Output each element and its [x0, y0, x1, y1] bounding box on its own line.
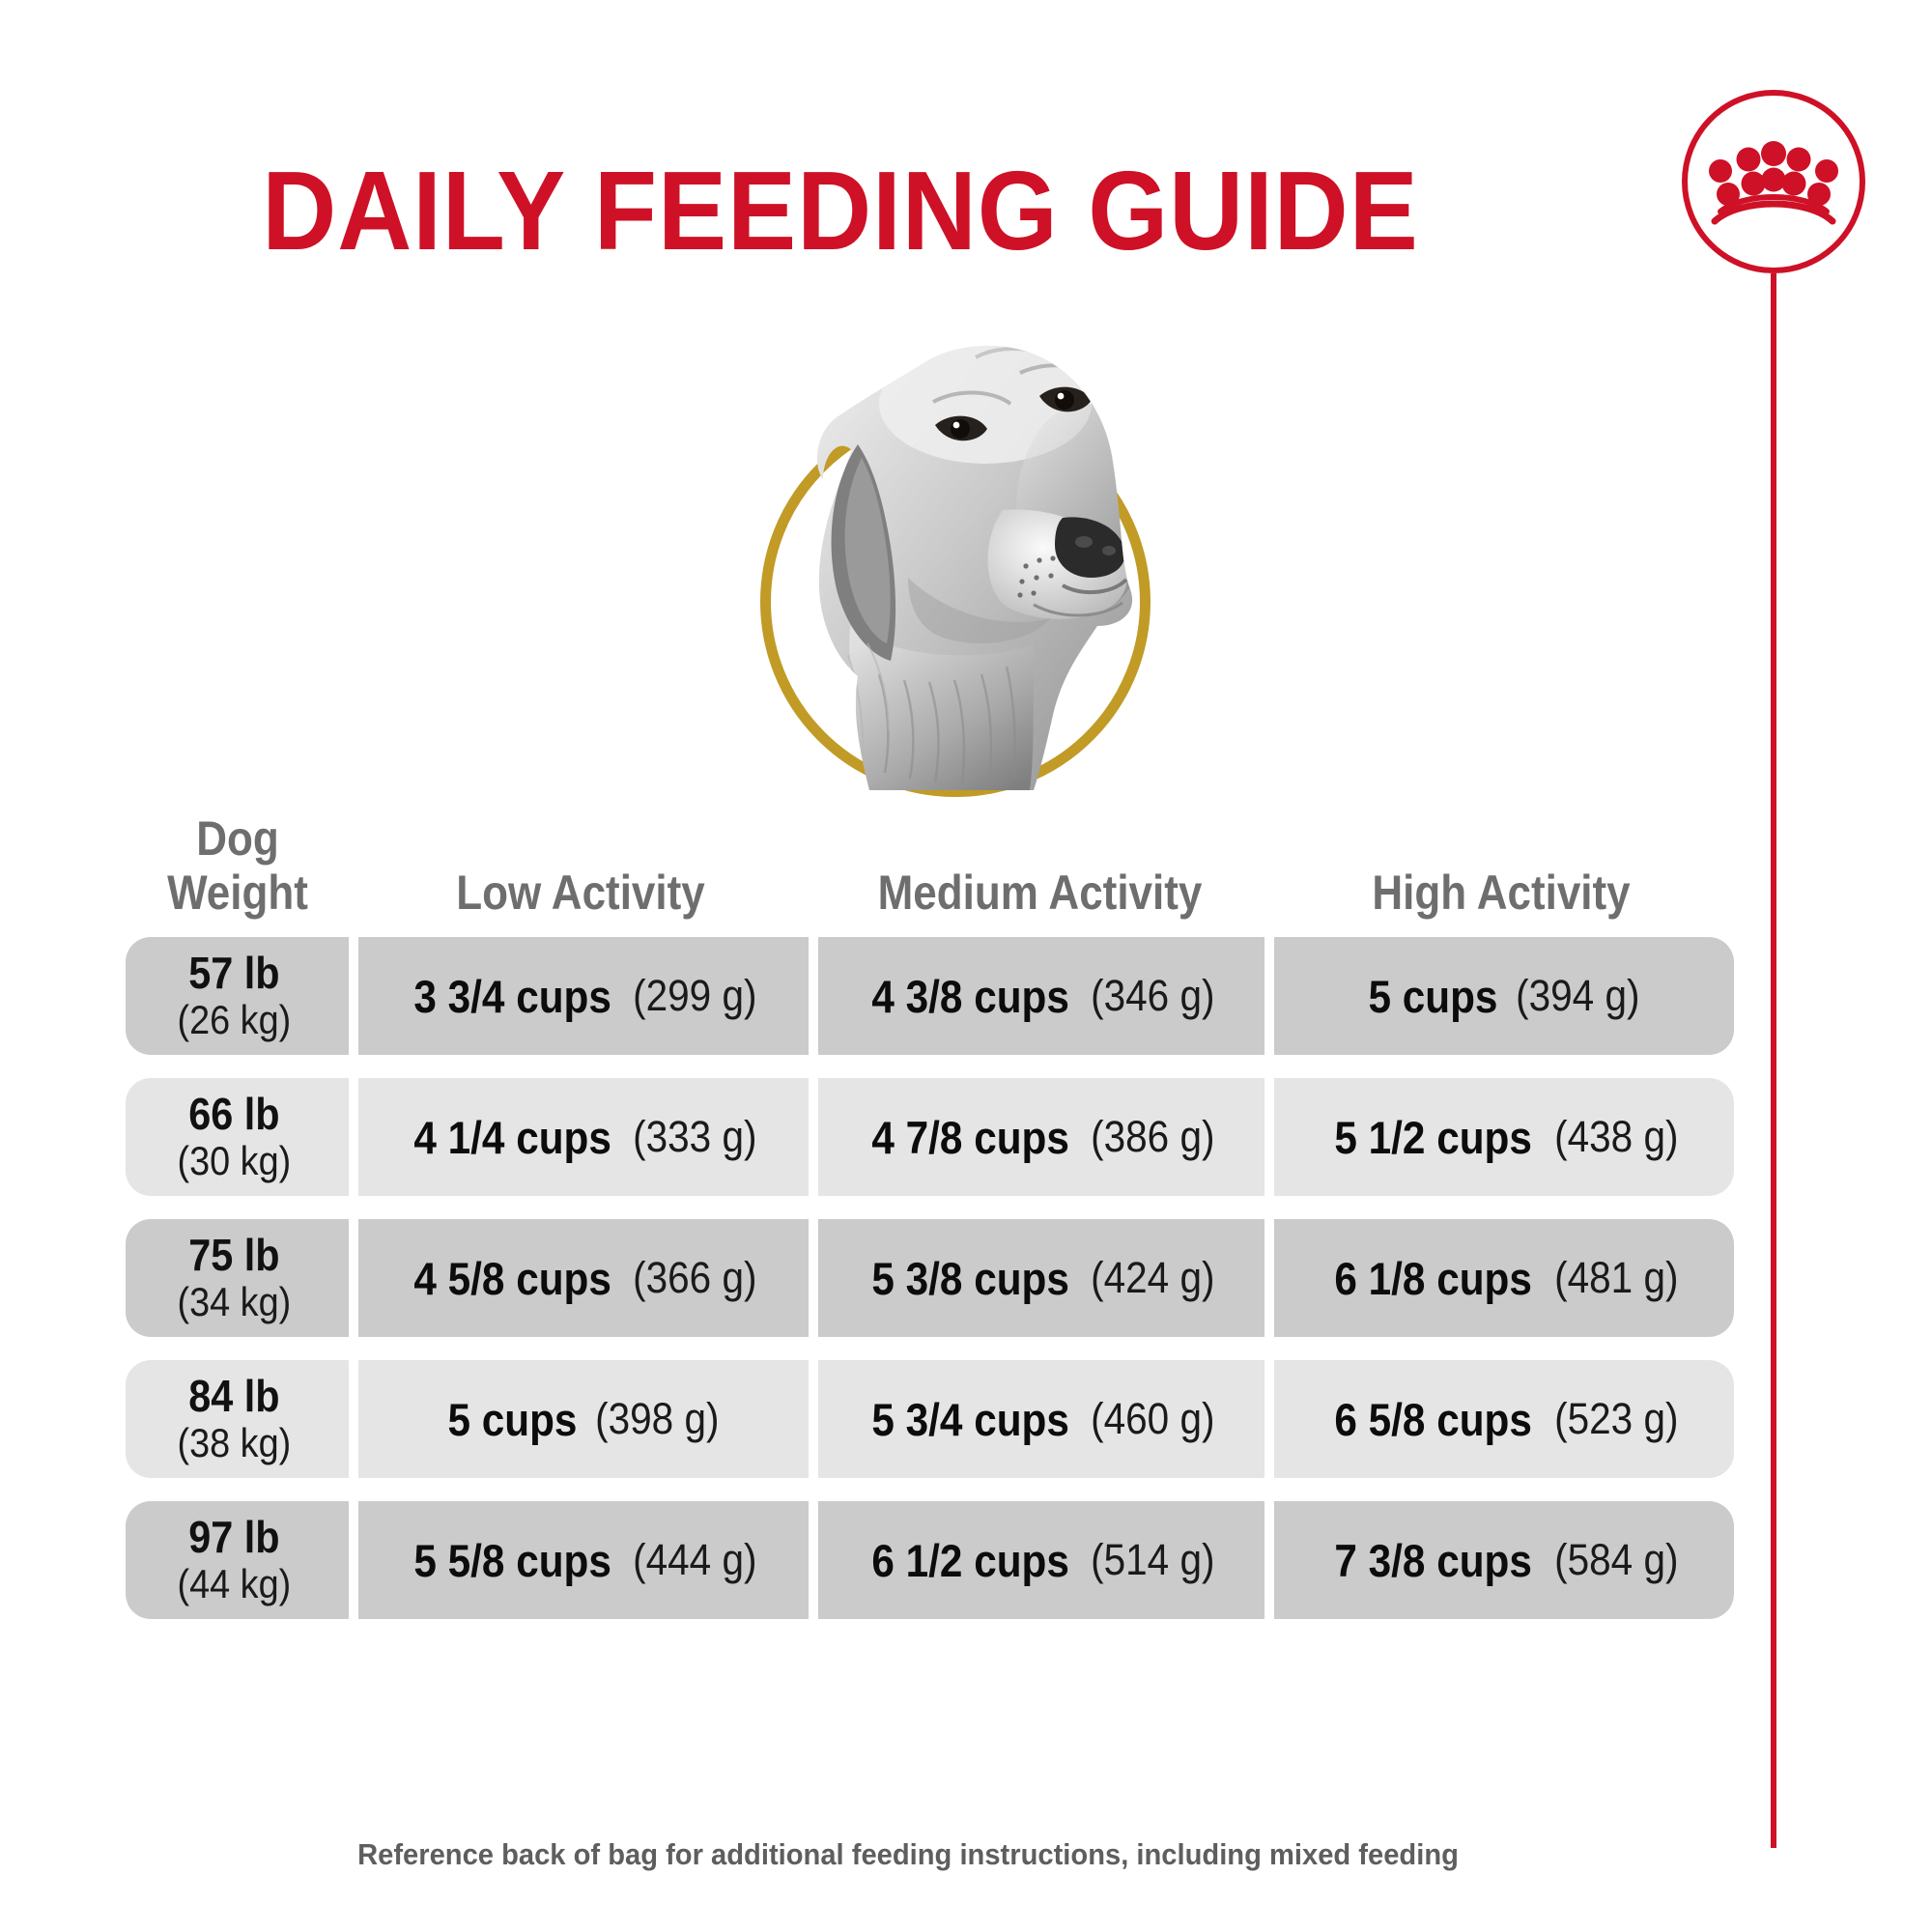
cell-divider — [809, 1501, 818, 1619]
cell-medium-activity: 4 3/8 cups (346 g) — [818, 937, 1265, 1055]
cell-divider — [809, 1078, 818, 1196]
cell-medium-activity: 4 7/8 cups (386 g) — [818, 1078, 1265, 1196]
brand-vertical-rule — [1771, 273, 1776, 1848]
weight-kg: (26 kg) — [178, 1000, 292, 1041]
cell-divider — [1264, 1078, 1274, 1196]
column-header-line2: Weight — [139, 866, 336, 920]
cell-divider — [349, 937, 358, 1055]
table-row: 75 lb (34 kg) 4 5/8 cups (366 g) 5 3/8 c… — [126, 1219, 1734, 1337]
column-header-medium-activity: Medium Activity — [838, 866, 1240, 937]
column-header-line1: Dog — [139, 811, 336, 866]
weight-kg: (38 kg) — [178, 1423, 292, 1464]
cell-high-activity: 5 1/2 cups (438 g) — [1274, 1078, 1734, 1196]
high-cups: 5 1/2 cups — [1335, 1111, 1533, 1164]
cell-low-activity: 5 cups (398 g) — [358, 1360, 809, 1478]
high-grams: (481 g) — [1554, 1253, 1678, 1303]
high-grams: (584 g) — [1554, 1535, 1678, 1585]
cell-divider — [1264, 1360, 1274, 1478]
low-grams: (366 g) — [633, 1253, 756, 1303]
table-row: 66 lb (30 kg) 4 1/4 cups (333 g) 4 7/8 c… — [126, 1078, 1734, 1196]
cell-divider — [1264, 937, 1274, 1055]
cell-low-activity: 4 1/4 cups (333 g) — [358, 1078, 809, 1196]
weight-kg: (30 kg) — [178, 1141, 292, 1182]
low-grams: (299 g) — [633, 971, 756, 1021]
weight-lb: 66 lb — [188, 1092, 279, 1137]
cell-divider — [809, 937, 818, 1055]
cell-dog-weight: 66 lb (30 kg) — [126, 1078, 349, 1196]
weight-lb: 97 lb — [188, 1515, 279, 1560]
cell-low-activity: 5 5/8 cups (444 g) — [358, 1501, 809, 1619]
high-cups: 7 3/8 cups — [1335, 1534, 1533, 1587]
table-row: 57 lb (26 kg) 3 3/4 cups (299 g) 4 3/8 c… — [126, 937, 1734, 1055]
low-grams: (398 g) — [595, 1394, 719, 1444]
medium-cups: 4 3/8 cups — [871, 970, 1069, 1023]
high-cups: 6 1/8 cups — [1335, 1252, 1533, 1305]
table-row: 84 lb (38 kg) 5 cups (398 g) 5 3/4 cups … — [126, 1360, 1734, 1478]
cell-divider — [1264, 1501, 1274, 1619]
cell-divider — [349, 1501, 358, 1619]
high-grams: (523 g) — [1554, 1394, 1678, 1444]
weight-lb: 57 lb — [188, 951, 279, 996]
high-cups: 5 cups — [1369, 970, 1498, 1023]
column-header-dog-weight: Dog Weight — [139, 811, 336, 937]
weight-kg: (34 kg) — [178, 1282, 292, 1323]
table-header-row: Dog Weight Low Activity Medium Activity … — [126, 773, 1734, 937]
weight-lb: 84 lb — [188, 1374, 279, 1419]
low-grams: (444 g) — [633, 1535, 756, 1585]
royal-canin-logo — [1682, 90, 1865, 273]
cell-high-activity: 6 1/8 cups (481 g) — [1274, 1219, 1734, 1337]
medium-cups: 4 7/8 cups — [871, 1111, 1069, 1164]
medium-cups: 5 3/8 cups — [871, 1252, 1069, 1305]
labrador-dog-photo — [744, 336, 1179, 790]
medium-grams: (460 g) — [1091, 1394, 1214, 1444]
footer-note: Reference back of bag for additional fee… — [54, 1837, 1761, 1872]
cell-divider — [809, 1360, 818, 1478]
cell-divider — [349, 1219, 358, 1337]
feeding-guide-table: Dog Weight Low Activity Medium Activity … — [126, 773, 1734, 1642]
medium-grams: (514 g) — [1091, 1535, 1214, 1585]
cell-dog-weight: 75 lb (34 kg) — [126, 1219, 349, 1337]
high-cups: 6 5/8 cups — [1335, 1393, 1533, 1446]
cell-dog-weight: 84 lb (38 kg) — [126, 1360, 349, 1478]
cell-low-activity: 3 3/4 cups (299 g) — [358, 937, 809, 1055]
low-cups: 4 1/4 cups — [413, 1111, 611, 1164]
cell-divider — [1264, 1219, 1274, 1337]
medium-grams: (424 g) — [1091, 1253, 1214, 1303]
hero-dog-portrait — [744, 336, 1179, 790]
high-grams: (438 g) — [1554, 1112, 1678, 1162]
cell-low-activity: 4 5/8 cups (366 g) — [358, 1219, 809, 1337]
medium-grams: (346 g) — [1091, 971, 1214, 1021]
weight-kg: (44 kg) — [178, 1564, 292, 1605]
weight-lb: 75 lb — [188, 1233, 279, 1278]
cell-high-activity: 6 5/8 cups (523 g) — [1274, 1360, 1734, 1478]
cell-dog-weight: 57 lb (26 kg) — [126, 937, 349, 1055]
cell-medium-activity: 5 3/8 cups (424 g) — [818, 1219, 1265, 1337]
royal-canin-crown-icon — [1707, 138, 1840, 225]
low-cups: 5 cups — [447, 1393, 577, 1446]
column-header-high-activity: High Activity — [1296, 866, 1706, 937]
cell-divider — [809, 1219, 818, 1337]
cell-divider — [349, 1078, 358, 1196]
medium-cups: 5 3/4 cups — [871, 1393, 1069, 1446]
column-header-low-activity: Low Activity — [378, 866, 784, 937]
medium-cups: 6 1/2 cups — [871, 1534, 1069, 1587]
high-grams: (394 g) — [1516, 971, 1639, 1021]
cell-medium-activity: 5 3/4 cups (460 g) — [818, 1360, 1265, 1478]
cell-medium-activity: 6 1/2 cups (514 g) — [818, 1501, 1265, 1619]
cell-high-activity: 5 cups (394 g) — [1274, 937, 1734, 1055]
cell-dog-weight: 97 lb (44 kg) — [126, 1501, 349, 1619]
table-row: 97 lb (44 kg) 5 5/8 cups (444 g) 6 1/2 c… — [126, 1501, 1734, 1619]
low-grams: (333 g) — [633, 1112, 756, 1162]
cell-divider — [349, 1360, 358, 1478]
low-cups: 3 3/4 cups — [413, 970, 611, 1023]
low-cups: 5 5/8 cups — [413, 1534, 611, 1587]
page-title: DAILY FEEDING GUIDE — [68, 155, 1614, 267]
medium-grams: (386 g) — [1091, 1112, 1214, 1162]
low-cups: 4 5/8 cups — [413, 1252, 611, 1305]
cell-high-activity: 7 3/8 cups (584 g) — [1274, 1501, 1734, 1619]
